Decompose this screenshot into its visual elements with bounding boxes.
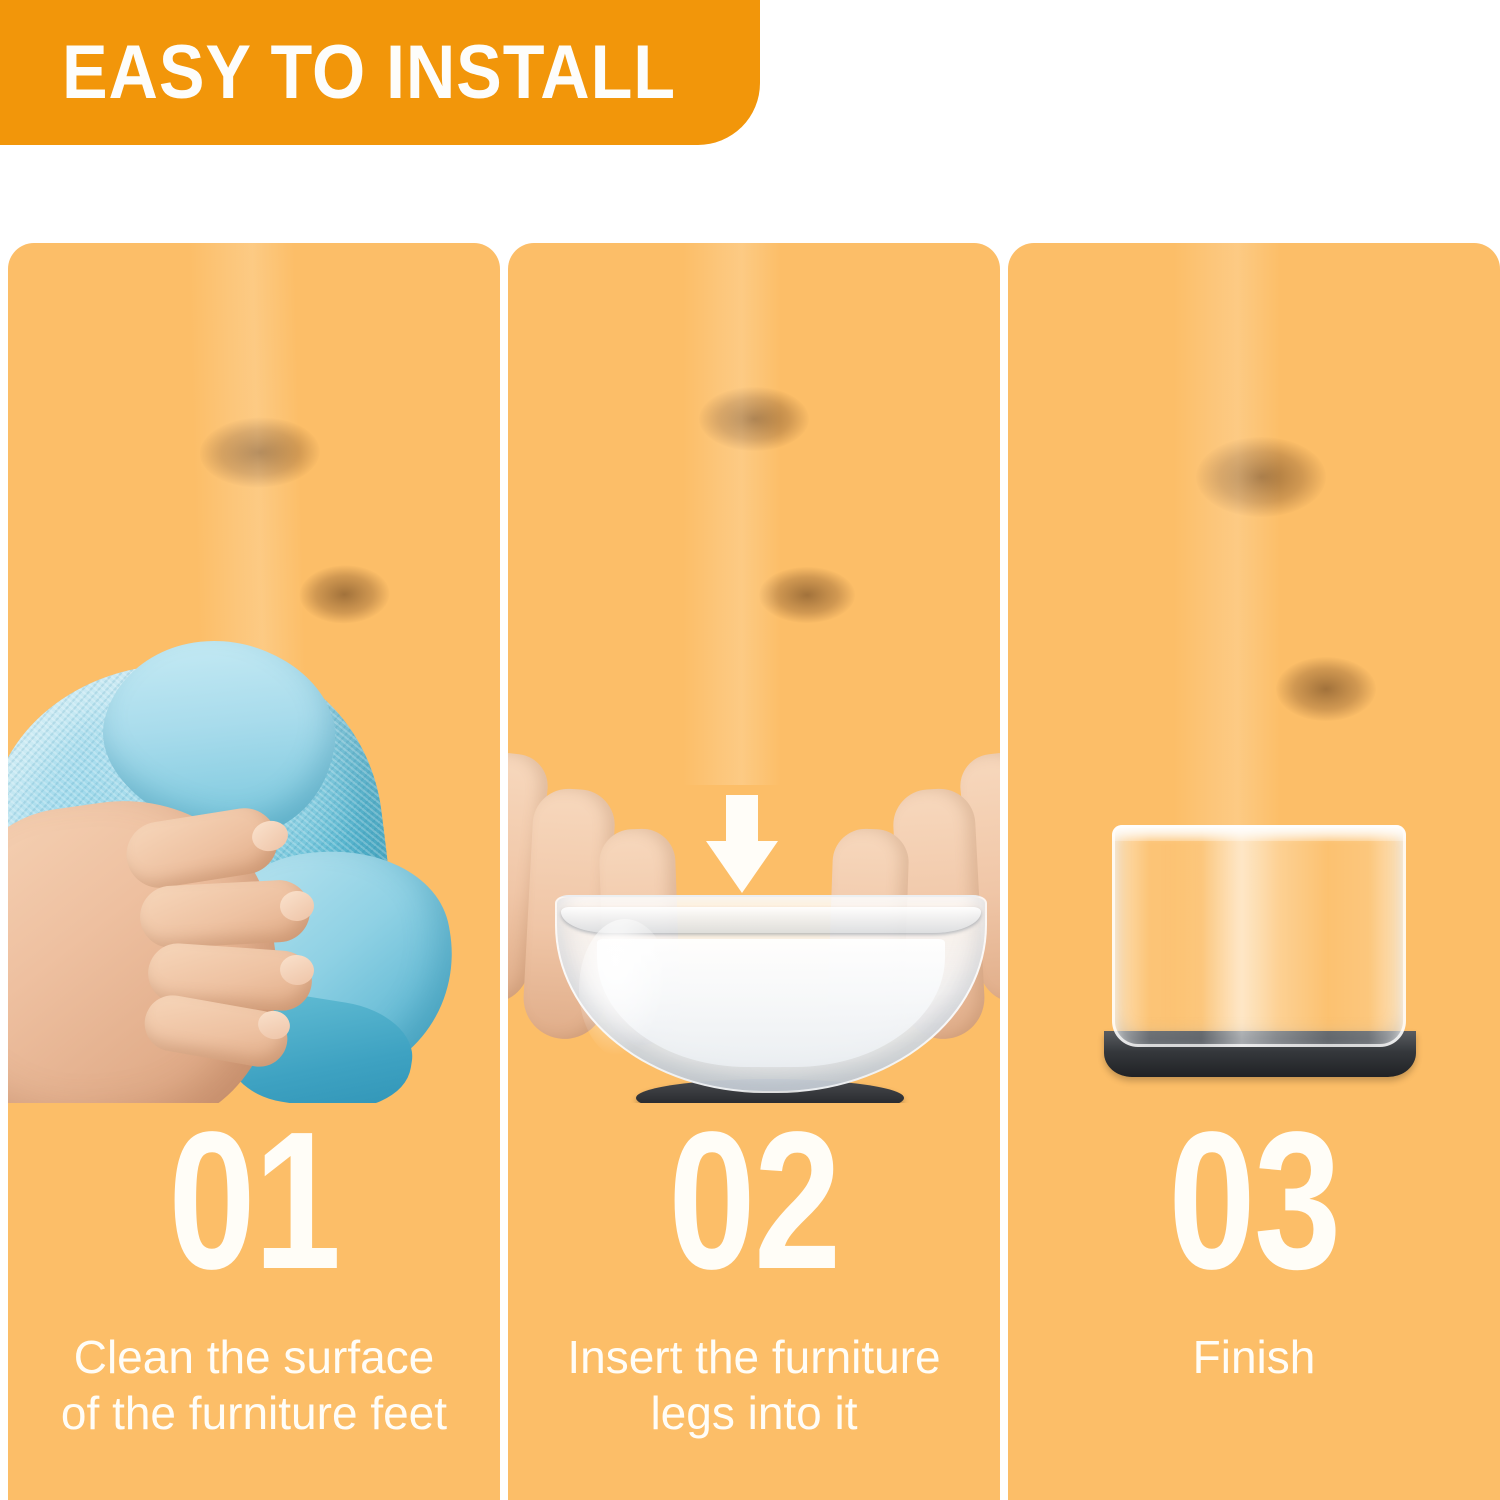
banner-title: EASY TO INSTALL <box>62 33 676 113</box>
step-01-caption: 01 Clean the surface of the furniture fe… <box>8 1103 500 1441</box>
step-number: 02 <box>572 1103 937 1299</box>
step-number: 03 <box>1072 1103 1437 1299</box>
clear-silicone-cup <box>1112 825 1406 1047</box>
step-description-line-1: Finish <box>1026 1329 1482 1385</box>
step-description: Insert the furniture legs into it <box>526 1329 982 1441</box>
wood-furniture-leg <box>639 243 883 785</box>
step-description: Finish <box>1026 1329 1482 1385</box>
clear-silicone-cup <box>555 895 987 1093</box>
step-03-caption: 03 Finish <box>1008 1103 1500 1385</box>
step-02-caption: 02 Insert the furniture legs into it <box>508 1103 1000 1441</box>
step-description-line-1: Clean the surface <box>26 1329 482 1385</box>
step-panel-03: 03 Finish <box>1008 243 1500 1500</box>
steps-container: 01 Clean the surface of the furniture fe… <box>0 243 1500 1500</box>
down-arrow-icon <box>706 795 778 891</box>
step-panel-02: 02 Insert the furniture legs into it <box>508 243 1000 1500</box>
step-01-photo <box>8 243 500 1103</box>
header-banner: EASY TO INSTALL <box>0 0 760 145</box>
step-description-line-1: Insert the furniture <box>526 1329 982 1385</box>
step-02-photo <box>508 243 1000 1103</box>
step-panel-01: 01 Clean the surface of the furniture fe… <box>8 243 500 1500</box>
step-description-line-2: of the furniture feet <box>26 1385 482 1441</box>
infographic-canvas: EASY TO INSTALL <box>0 0 1500 1500</box>
step-description-line-2: legs into it <box>526 1385 982 1441</box>
step-03-photo <box>1008 243 1500 1103</box>
step-number: 01 <box>72 1103 437 1299</box>
step-description: Clean the surface of the furniture feet <box>26 1329 482 1441</box>
